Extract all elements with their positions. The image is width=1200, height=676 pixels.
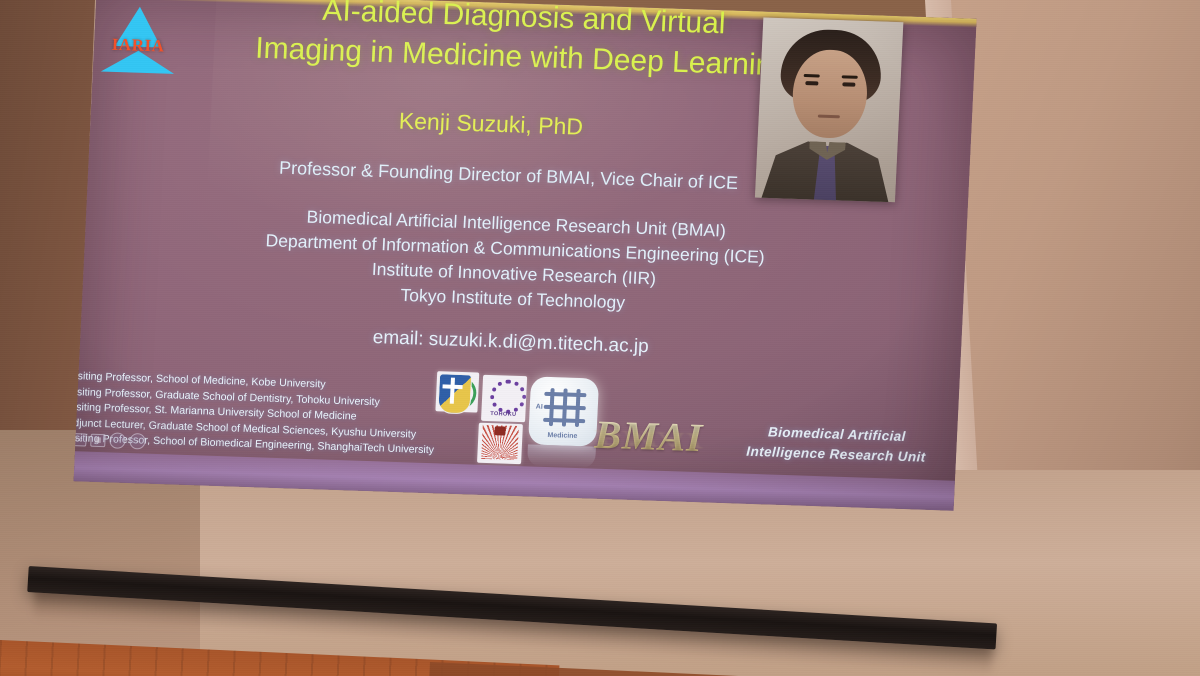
kyushu-university-logo-icon [477,423,523,464]
author-name: Kenji Suzuki, PhD [240,102,741,146]
tohoku-wreath-shape [489,379,527,414]
bmai-wordmark-reflection: BMAI [594,425,704,454]
contact-email: email: suzuki.k.di@m.titech.ac.jp [200,321,821,364]
subtitles-button[interactable]: cc [74,433,87,447]
tohoku-logo-text: TOHOKU [481,411,525,418]
presenter-toolbar[interactable]: ‹ ╱ cc ▦ ⋯ › [74,430,146,450]
tohoku-university-logo-icon: TOHOKU [481,375,527,422]
medicine-icon-label: Medicine [528,431,596,440]
kyushu-crest-shape [494,426,505,435]
portrait-eye-right [842,82,855,86]
iaria-logo: IARIA [100,3,177,77]
ai-medicine-icon-reflection [527,444,596,468]
ai-medicine-app-icon: AI Medicine [528,376,599,446]
bmai-tagline: Biomedical Artificial Intelligence Resea… [716,421,958,468]
author-role: Professor & Founding Director of BMAI, V… [168,154,849,198]
cross-horizontal-shape [442,384,462,389]
photo-scene: IARIA AI-aided Diagnosis and Virtual Ima… [0,0,1200,676]
speaker-portrait-photo [755,18,903,203]
portrait-brow-left [804,74,820,78]
university-logo-cluster: KOBE X TOHOKU [433,371,529,464]
all-slides-button[interactable]: ▦ [90,433,106,447]
iaria-logo-text: IARIA [104,35,173,57]
neural-network-icon [543,388,587,427]
more-options-button[interactable]: ⋯ [109,432,126,449]
ai-icon-label: AI [536,404,543,411]
next-slide-button[interactable]: › [129,433,146,450]
portrait-eye-left [805,81,818,85]
presentation-slide: IARIA AI-aided Diagnosis and Virtual Ima… [74,0,977,511]
affiliation-block: Biomedical Artificial Intelligence Resea… [142,199,887,323]
portrait-brow-right [842,75,858,79]
